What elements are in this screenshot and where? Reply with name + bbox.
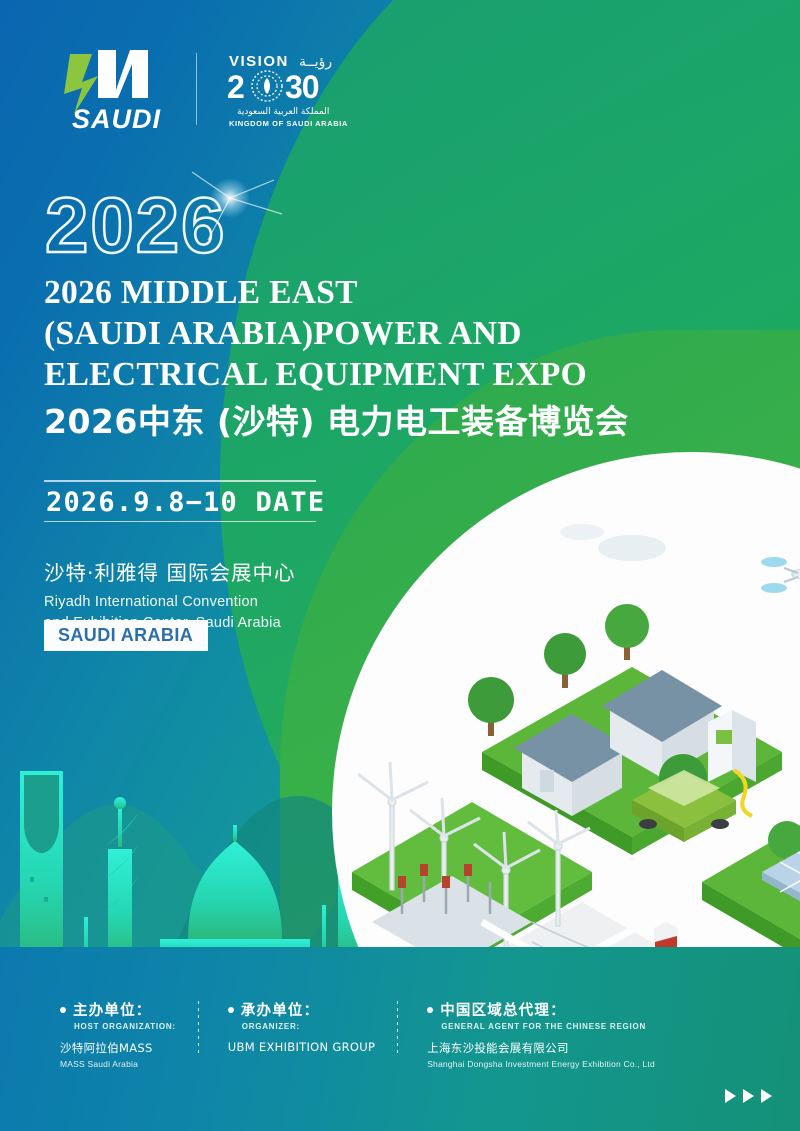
title-line-3: ELECTRICAL EQUIPMENT EXPO bbox=[44, 354, 744, 395]
bullet-icon bbox=[228, 1007, 234, 1013]
org-divider-2 bbox=[397, 1001, 398, 1057]
org-agent-label-en: GENERAL AGENT FOR THE CHINESE REGION bbox=[441, 1022, 655, 1031]
org-host-header: 主办单位： bbox=[60, 999, 176, 1020]
title-line-1: 2026 MIDDLE EAST bbox=[44, 272, 744, 313]
org-organizer-name-cn: UBM EXHIBITION GROUP bbox=[228, 1040, 375, 1054]
org-agent: 中国区域总代理： GENERAL AGENT FOR THE CHINESE R… bbox=[397, 999, 677, 1069]
venue-chinese: 沙特·利雅得 国际会展中心 bbox=[44, 556, 296, 586]
play-arrow-icon bbox=[725, 1089, 736, 1103]
title-chinese: 2026中东 (沙特) 电力电工装备博览会 bbox=[44, 403, 744, 442]
arrow-decoration bbox=[725, 1089, 772, 1103]
country-badge-label: SAUDI ARABIA bbox=[58, 625, 193, 645]
org-host-label-cn: 主办单位： bbox=[73, 999, 152, 1020]
bullet-icon bbox=[427, 1007, 433, 1013]
venue-english-line-1: Riyadh International Convention bbox=[44, 592, 296, 613]
title-block: 2026 MIDDLE EAST (SAUDI ARABIA)POWER AND… bbox=[44, 272, 744, 442]
footer-organizations: 主办单位： HOST ORGANIZATION: 沙特阿拉伯MASS MASS … bbox=[60, 999, 677, 1069]
org-agent-name-cn: 上海东沙投能会展有限公司 bbox=[427, 1040, 655, 1056]
year-outline-2026: 2026 bbox=[45, 186, 227, 264]
org-organizer-label-cn: 承办单位： bbox=[241, 999, 320, 1020]
tree bbox=[468, 677, 514, 736]
play-arrow-icon bbox=[761, 1089, 772, 1103]
org-organizer-header: 承办单位： bbox=[228, 999, 375, 1020]
svg-text:2: 2 bbox=[227, 69, 244, 105]
org-host: 主办单位： HOST ORGANIZATION: 沙特阿拉伯MASS MASS … bbox=[60, 999, 198, 1069]
saudi-lightning-logo: SAUDI bbox=[52, 46, 170, 132]
org-host-label-en: HOST ORGANIZATION: bbox=[74, 1022, 176, 1031]
country-badge: SAUDI ARABIA bbox=[44, 620, 208, 651]
svg-text:KINGDOM OF SAUDI ARABIA: KINGDOM OF SAUDI ARABIA bbox=[229, 119, 348, 128]
svg-text:رؤيــة: رؤيــة bbox=[299, 54, 332, 70]
svg-text:30: 30 bbox=[285, 69, 319, 105]
org-organizer-label-en: ORGANIZER: bbox=[242, 1022, 375, 1031]
svg-text:المملكة العربية السعودية: المملكة العربية السعودية bbox=[237, 107, 329, 117]
svg-text:VISION: VISION bbox=[229, 53, 289, 70]
org-host-name-cn: 沙特阿拉伯MASS bbox=[60, 1040, 176, 1056]
org-agent-header: 中国区域总代理： bbox=[427, 999, 655, 1020]
logo-divider bbox=[196, 53, 197, 125]
org-agent-name-en: Shanghai Dongsha Investment Energy Exhib… bbox=[427, 1059, 655, 1069]
play-arrow-icon bbox=[743, 1089, 754, 1103]
date-block: 2026.9.8−10 DATE bbox=[44, 480, 316, 522]
date-rule-bottom bbox=[44, 521, 316, 523]
tree bbox=[605, 604, 649, 660]
org-divider-1 bbox=[198, 1001, 199, 1057]
svg-text:SAUDI: SAUDI bbox=[72, 104, 161, 132]
org-agent-label-cn: 中国区域总代理： bbox=[440, 999, 566, 1020]
poster-root: SAUDI VISION رؤيــة 2 30 المملكة العربية… bbox=[0, 0, 800, 1131]
bullet-icon bbox=[60, 1007, 66, 1013]
org-host-name-en: MASS Saudi Arabia bbox=[60, 1059, 176, 1069]
vision-2030-logo: VISION رؤيــة 2 30 المملكة العربية السعو… bbox=[223, 46, 368, 132]
title-line-2: (SAUDI ARABIA)POWER AND bbox=[44, 313, 744, 354]
header-logos: SAUDI VISION رؤيــة 2 30 المملكة العربية… bbox=[52, 46, 368, 132]
org-organizer: 承办单位： ORGANIZER: UBM EXHIBITION GROUP bbox=[198, 999, 397, 1057]
drone-icon bbox=[761, 557, 800, 593]
tree bbox=[544, 633, 586, 688]
date-text: 2026.9.8−10 DATE bbox=[44, 482, 316, 521]
